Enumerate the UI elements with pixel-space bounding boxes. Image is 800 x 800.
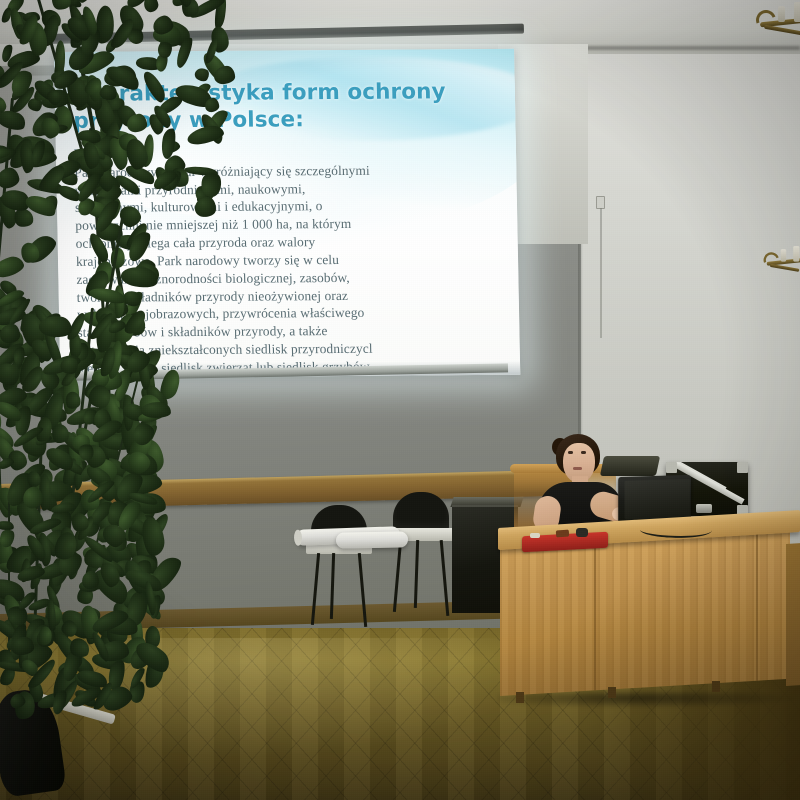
stacking-chair-right — [393, 492, 449, 532]
desk-side-panel — [786, 543, 800, 686]
plant-leaf — [65, 391, 82, 410]
presenter-mouth — [573, 467, 582, 470]
plant-leaf — [141, 69, 168, 104]
brass-wall-sconce-lower-icon — [762, 246, 800, 282]
plant-leaf — [13, 208, 34, 228]
wall-conduit — [600, 208, 602, 338]
desk-foot — [516, 692, 524, 703]
desk-item — [556, 530, 569, 538]
desk-front-panel — [500, 531, 790, 696]
plant-leaf — [185, 123, 225, 147]
rolled-paper-chart-secondary — [336, 531, 408, 548]
plant-leaf — [52, 0, 71, 10]
sconce-arm-secondary — [764, 25, 800, 36]
plant-leaf — [0, 527, 18, 550]
plant-leaf — [143, 0, 161, 13]
foreground-ficus-plant — [0, 0, 274, 708]
brass-wall-sconce-upper-icon — [754, 2, 800, 48]
photo-scene: Charakterystyka form ochrony przyrody w … — [0, 0, 800, 800]
desk-panel-seam — [756, 533, 758, 681]
desk-foot — [712, 681, 720, 692]
sconce-candle-secondary — [778, 6, 785, 22]
desk-item — [530, 533, 540, 538]
desk-floor-shadow — [498, 692, 798, 708]
desk-wood-grain — [500, 531, 790, 696]
plant-leaf — [194, 197, 216, 218]
desk-item — [576, 528, 588, 537]
plant-leaf — [10, 637, 34, 655]
desk-foot — [608, 687, 616, 698]
sconce-arm-secondary — [770, 264, 800, 272]
sconce-candle — [793, 246, 799, 262]
chair-backrest — [393, 492, 449, 532]
sconce-candle — [794, 2, 800, 22]
case-latch-icon — [696, 504, 712, 513]
plant-leaf — [0, 324, 20, 343]
sconce-candle-secondary — [781, 249, 786, 261]
plant-leaf — [0, 166, 21, 190]
laptop-screen — [625, 479, 690, 521]
paper-roll-end — [294, 530, 303, 546]
presenter-eye-left — [568, 451, 573, 454]
case-corner-protector — [666, 462, 677, 473]
desk-panel-seam — [594, 542, 596, 690]
plant-leaf — [27, 471, 40, 488]
plant-leaf — [141, 401, 172, 418]
presenter-eye-right — [581, 451, 586, 454]
case-corner-protector — [737, 462, 748, 473]
